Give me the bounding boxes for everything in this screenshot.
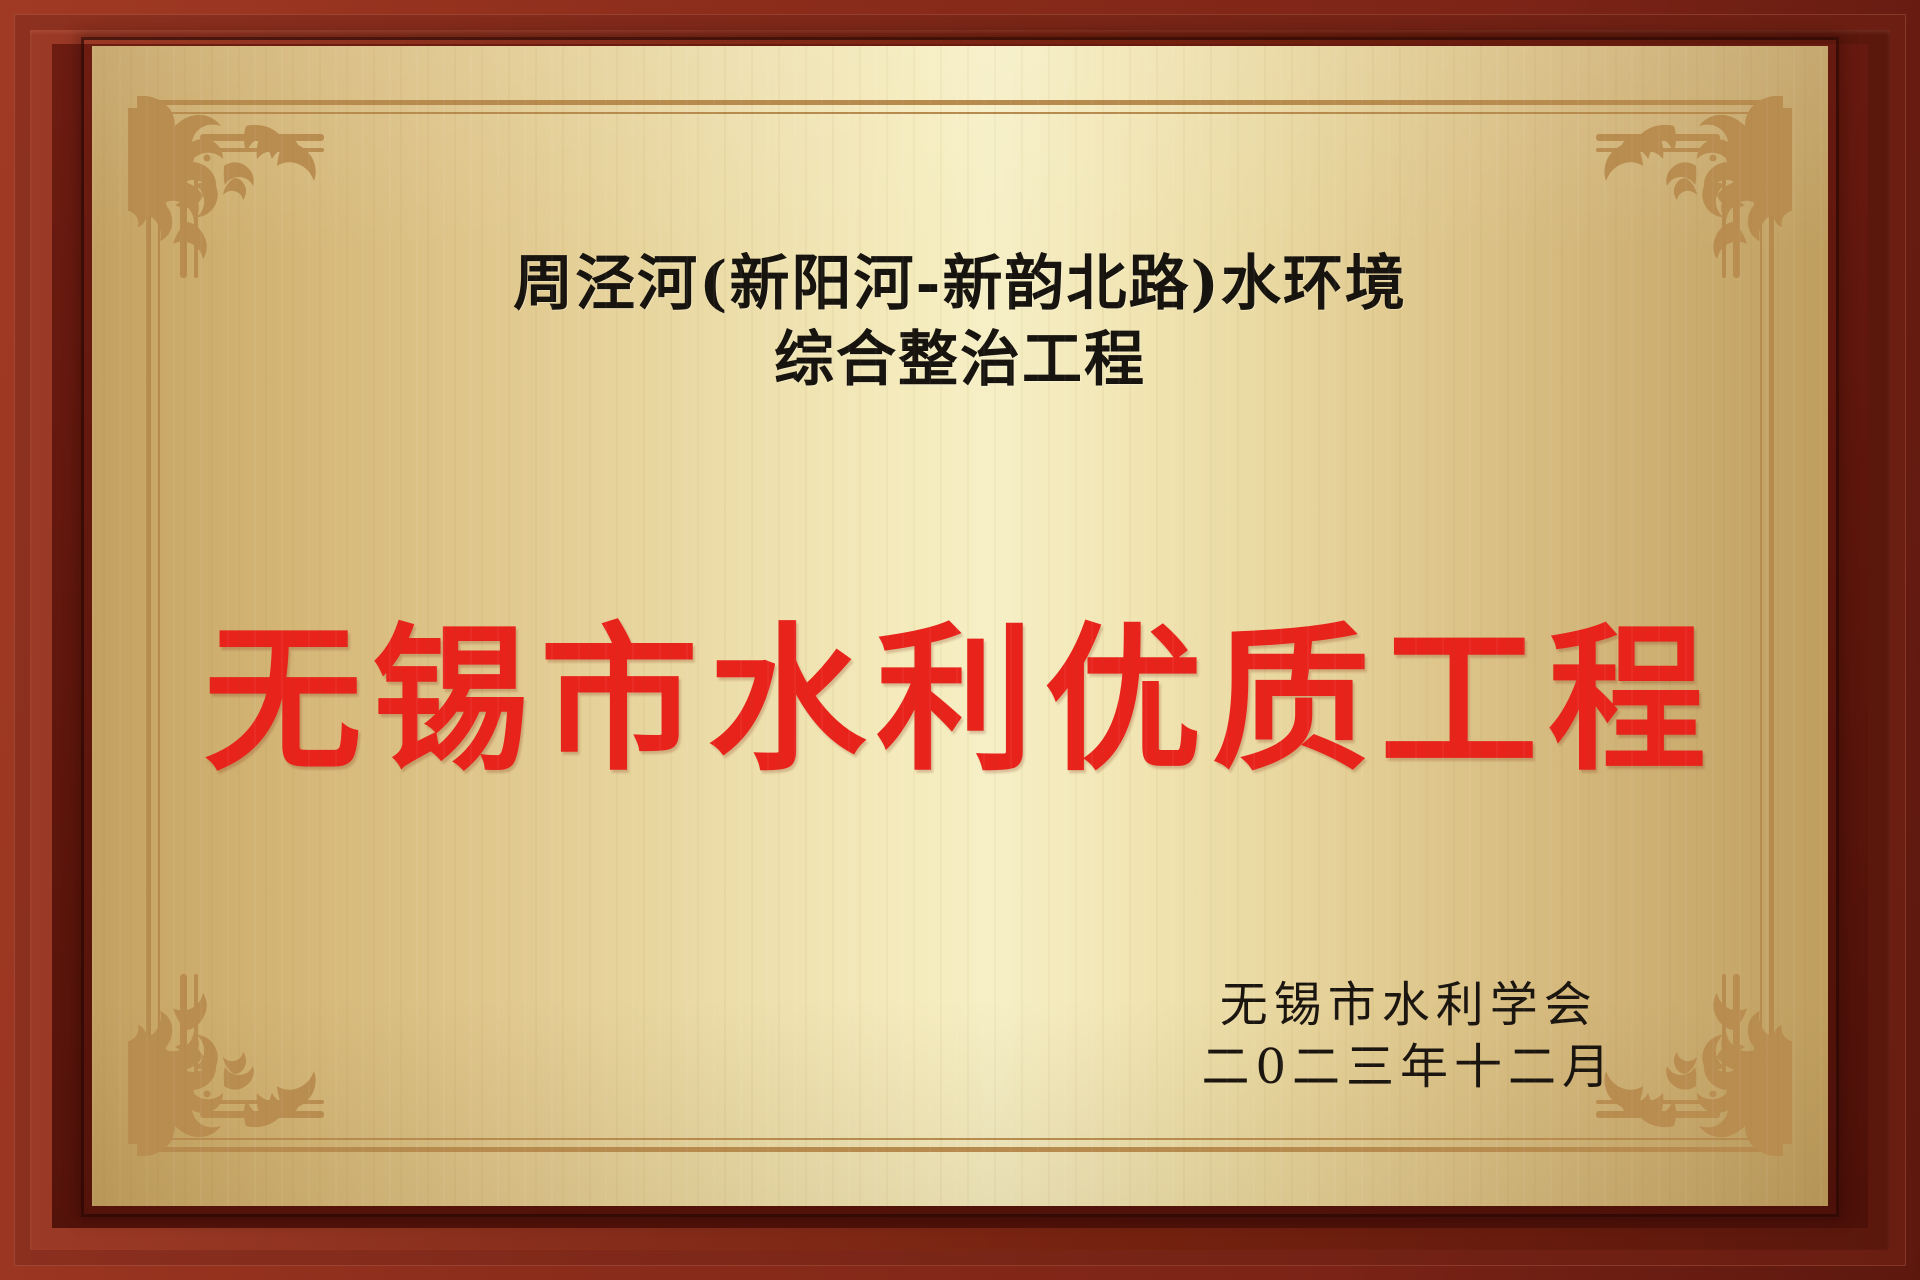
project-title: 周泾河(新阳河-新韵北路)水环境 综合整治工程 [92,246,1828,398]
award-name: 无锡市水利优质工程 [92,616,1828,786]
gold-plate: 周泾河(新阳河-新韵北路)水环境 综合整治工程 无锡市水利优质工程 无锡市水利学… [92,46,1828,1206]
award-plaque: 周泾河(新阳河-新韵北路)水环境 综合整治工程 无锡市水利优质工程 无锡市水利学… [0,0,1920,1280]
signature-block: 无锡市水利学会 二0二三年十二月 [1201,974,1616,1098]
project-title-line1: 周泾河(新阳河-新韵北路)水环境 [513,249,1407,319]
issuing-organization: 无锡市水利学会 [1201,974,1616,1036]
issue-date: 二0二三年十二月 [1201,1036,1616,1098]
project-title-line2: 综合整治工程 [92,322,1828,398]
plaque-content: 周泾河(新阳河-新韵北路)水环境 综合整治工程 无锡市水利优质工程 无锡市水利学… [92,46,1828,1206]
